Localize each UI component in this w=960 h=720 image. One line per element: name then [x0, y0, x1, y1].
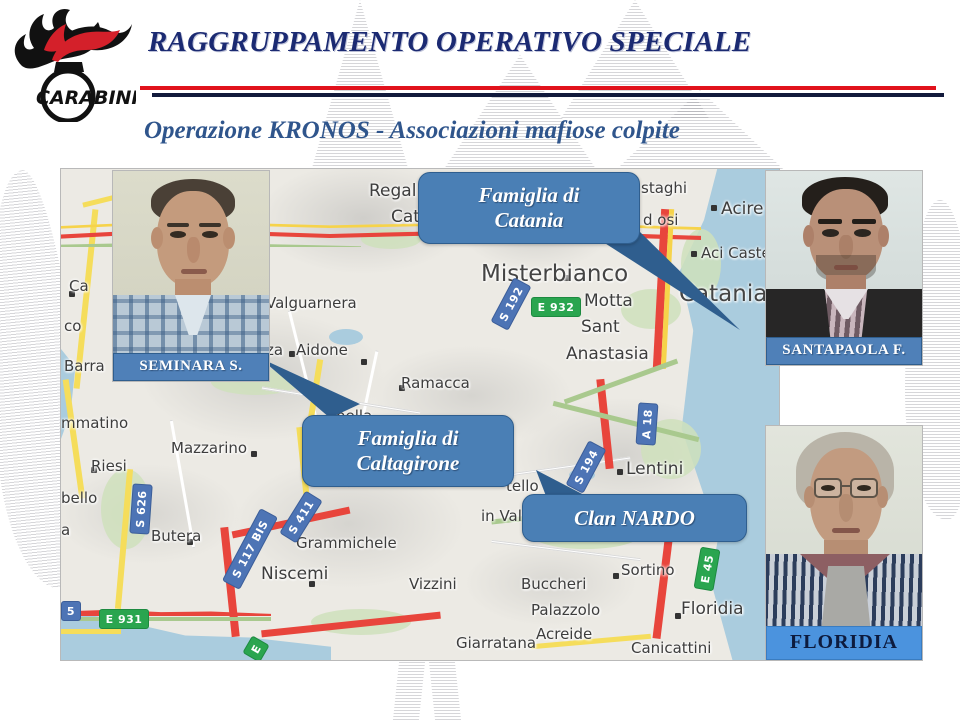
map-city-label: Grammichele	[296, 534, 397, 552]
mugshot-santapaola	[766, 171, 922, 365]
callout-famiglia-di-caltagirone[interactable]: Famiglia di Caltagirone	[302, 415, 514, 487]
map-city-dot	[617, 469, 623, 475]
eyebrow-left	[167, 223, 189, 227]
map-city-dot	[289, 351, 295, 357]
map-city-label: Mazzarino	[171, 439, 247, 457]
mouth	[832, 528, 860, 533]
map-city-label: Anastasia	[566, 344, 649, 364]
ear-right	[223, 227, 235, 249]
map-city-label: Lentini	[626, 459, 683, 479]
map-city-dot	[691, 251, 697, 257]
map-city-label: Catania	[679, 281, 767, 307]
map-city-label: Niscemi	[261, 564, 328, 584]
callout-catania-line1: Famiglia di	[479, 183, 580, 208]
map-city-dot	[361, 359, 367, 365]
map-road-shield: S 626	[129, 483, 152, 534]
mouth	[181, 269, 207, 274]
map-city-label: Valguarnera	[266, 294, 357, 312]
map-city-label: Misterbianco	[481, 261, 628, 287]
map-city-label: Ca	[69, 277, 89, 295]
flame-watermark-bottom-2	[429, 662, 461, 720]
name-plate-floridia: FLORIDIA	[766, 626, 922, 660]
divider-navy	[152, 93, 944, 97]
map-city-label: Acire	[721, 199, 763, 219]
eye-left	[170, 231, 186, 238]
page-subtitle: Operazione KRONOS - Associazioni mafiose…	[144, 117, 904, 145]
eyebrow-right	[199, 223, 221, 227]
mouth	[834, 265, 858, 270]
nose	[839, 494, 853, 522]
map-secondary-road	[61, 629, 121, 634]
eye-right	[854, 229, 871, 237]
map-city-label: d osi	[643, 211, 678, 229]
map-road-shield: A 18	[636, 402, 659, 445]
map-city-label: Butera	[151, 527, 201, 545]
map-city-dot	[711, 205, 717, 211]
callout-clan-nardo[interactable]: Clan NARDO	[522, 494, 747, 542]
photo-card-santapaola[interactable]: SANTAPAOLA F.	[765, 170, 923, 366]
map-city-label: Ramacca	[401, 374, 470, 392]
mugshot-floridia	[766, 426, 922, 660]
map-city-label: mmatino	[61, 414, 128, 432]
nose	[187, 237, 200, 263]
map-city-label: Riesi	[91, 457, 127, 475]
map-city-label: staghi	[641, 179, 687, 197]
map-city-label: Sant	[581, 317, 620, 337]
ear-left	[151, 227, 163, 249]
name-plate-santapaola: SANTAPAOLA F.	[766, 337, 922, 365]
divider-red	[140, 86, 936, 90]
callout-caltagirone-line1: Famiglia di	[357, 426, 460, 451]
map-city-label: Motta	[584, 291, 633, 311]
photo-card-seminara[interactable]: SEMINARA S.	[112, 170, 270, 382]
map-city-label: Buccheri	[521, 575, 586, 593]
map-city-label: co	[64, 317, 81, 335]
svg-text:CARABINIERI: CARABINIERI	[36, 87, 136, 109]
eye-left	[822, 229, 839, 237]
map-city-label: Floridia	[681, 599, 744, 619]
ear-right	[878, 225, 889, 247]
ear-right	[877, 486, 888, 508]
photo-card-floridia[interactable]: FLORIDIA	[765, 425, 923, 661]
map-city-label: Acreide	[536, 625, 592, 643]
map-road-shield: 5	[61, 601, 81, 621]
map-city-label: bello	[61, 489, 97, 507]
map-city-dot	[613, 573, 619, 579]
map-road-shield: E 932	[531, 297, 581, 317]
eye-right	[857, 485, 871, 491]
page-title: RAGGRUPPAMENTO OPERATIVO SPECIALE	[148, 26, 848, 59]
mugshot-seminara	[113, 171, 269, 381]
callout-catania-line2: Catania	[479, 208, 580, 233]
ear-left	[803, 225, 814, 247]
map-city-label: Giarratana	[456, 634, 536, 652]
map-city-label: Palazzolo	[531, 601, 600, 619]
map-city-label: Aidone	[296, 341, 348, 359]
map-city-label: in Val	[481, 507, 522, 525]
callout-famiglia-di-catania[interactable]: Famiglia di Catania	[418, 172, 640, 244]
map-city-label: Aci Caste	[701, 244, 771, 262]
map-city-label: Canicattini	[631, 639, 711, 657]
flame-watermark-center-4	[560, 0, 710, 120]
map-city-label: Barra	[64, 357, 105, 375]
eyebrow-right	[852, 219, 876, 224]
name-plate-seminara: SEMINARA S.	[113, 353, 269, 381]
map-city-label: Vizzini	[409, 575, 457, 593]
eye-left	[821, 485, 835, 491]
flame-watermark-bottom-1	[393, 662, 425, 720]
slide-root: CARABINIERI RAGGRUPPAMENTO OPERATIVO SPE…	[0, 0, 960, 720]
map-city-label: Regal	[369, 181, 416, 201]
map-city-dot	[251, 451, 257, 457]
map-road-shield: E 931	[99, 609, 149, 629]
map-city-label: a	[61, 521, 70, 539]
eyebrow-left	[818, 219, 842, 224]
callout-caltagirone-line2: Caltagirone	[357, 451, 460, 476]
map-city-label: Sortino	[621, 561, 675, 579]
carabinieri-flaming-grenade-logo: CARABINIERI	[4, 4, 136, 122]
eye-right	[202, 231, 218, 238]
callout-nardo-line1: Clan NARDO	[574, 506, 695, 531]
eyeglasses-bridge	[842, 485, 850, 487]
